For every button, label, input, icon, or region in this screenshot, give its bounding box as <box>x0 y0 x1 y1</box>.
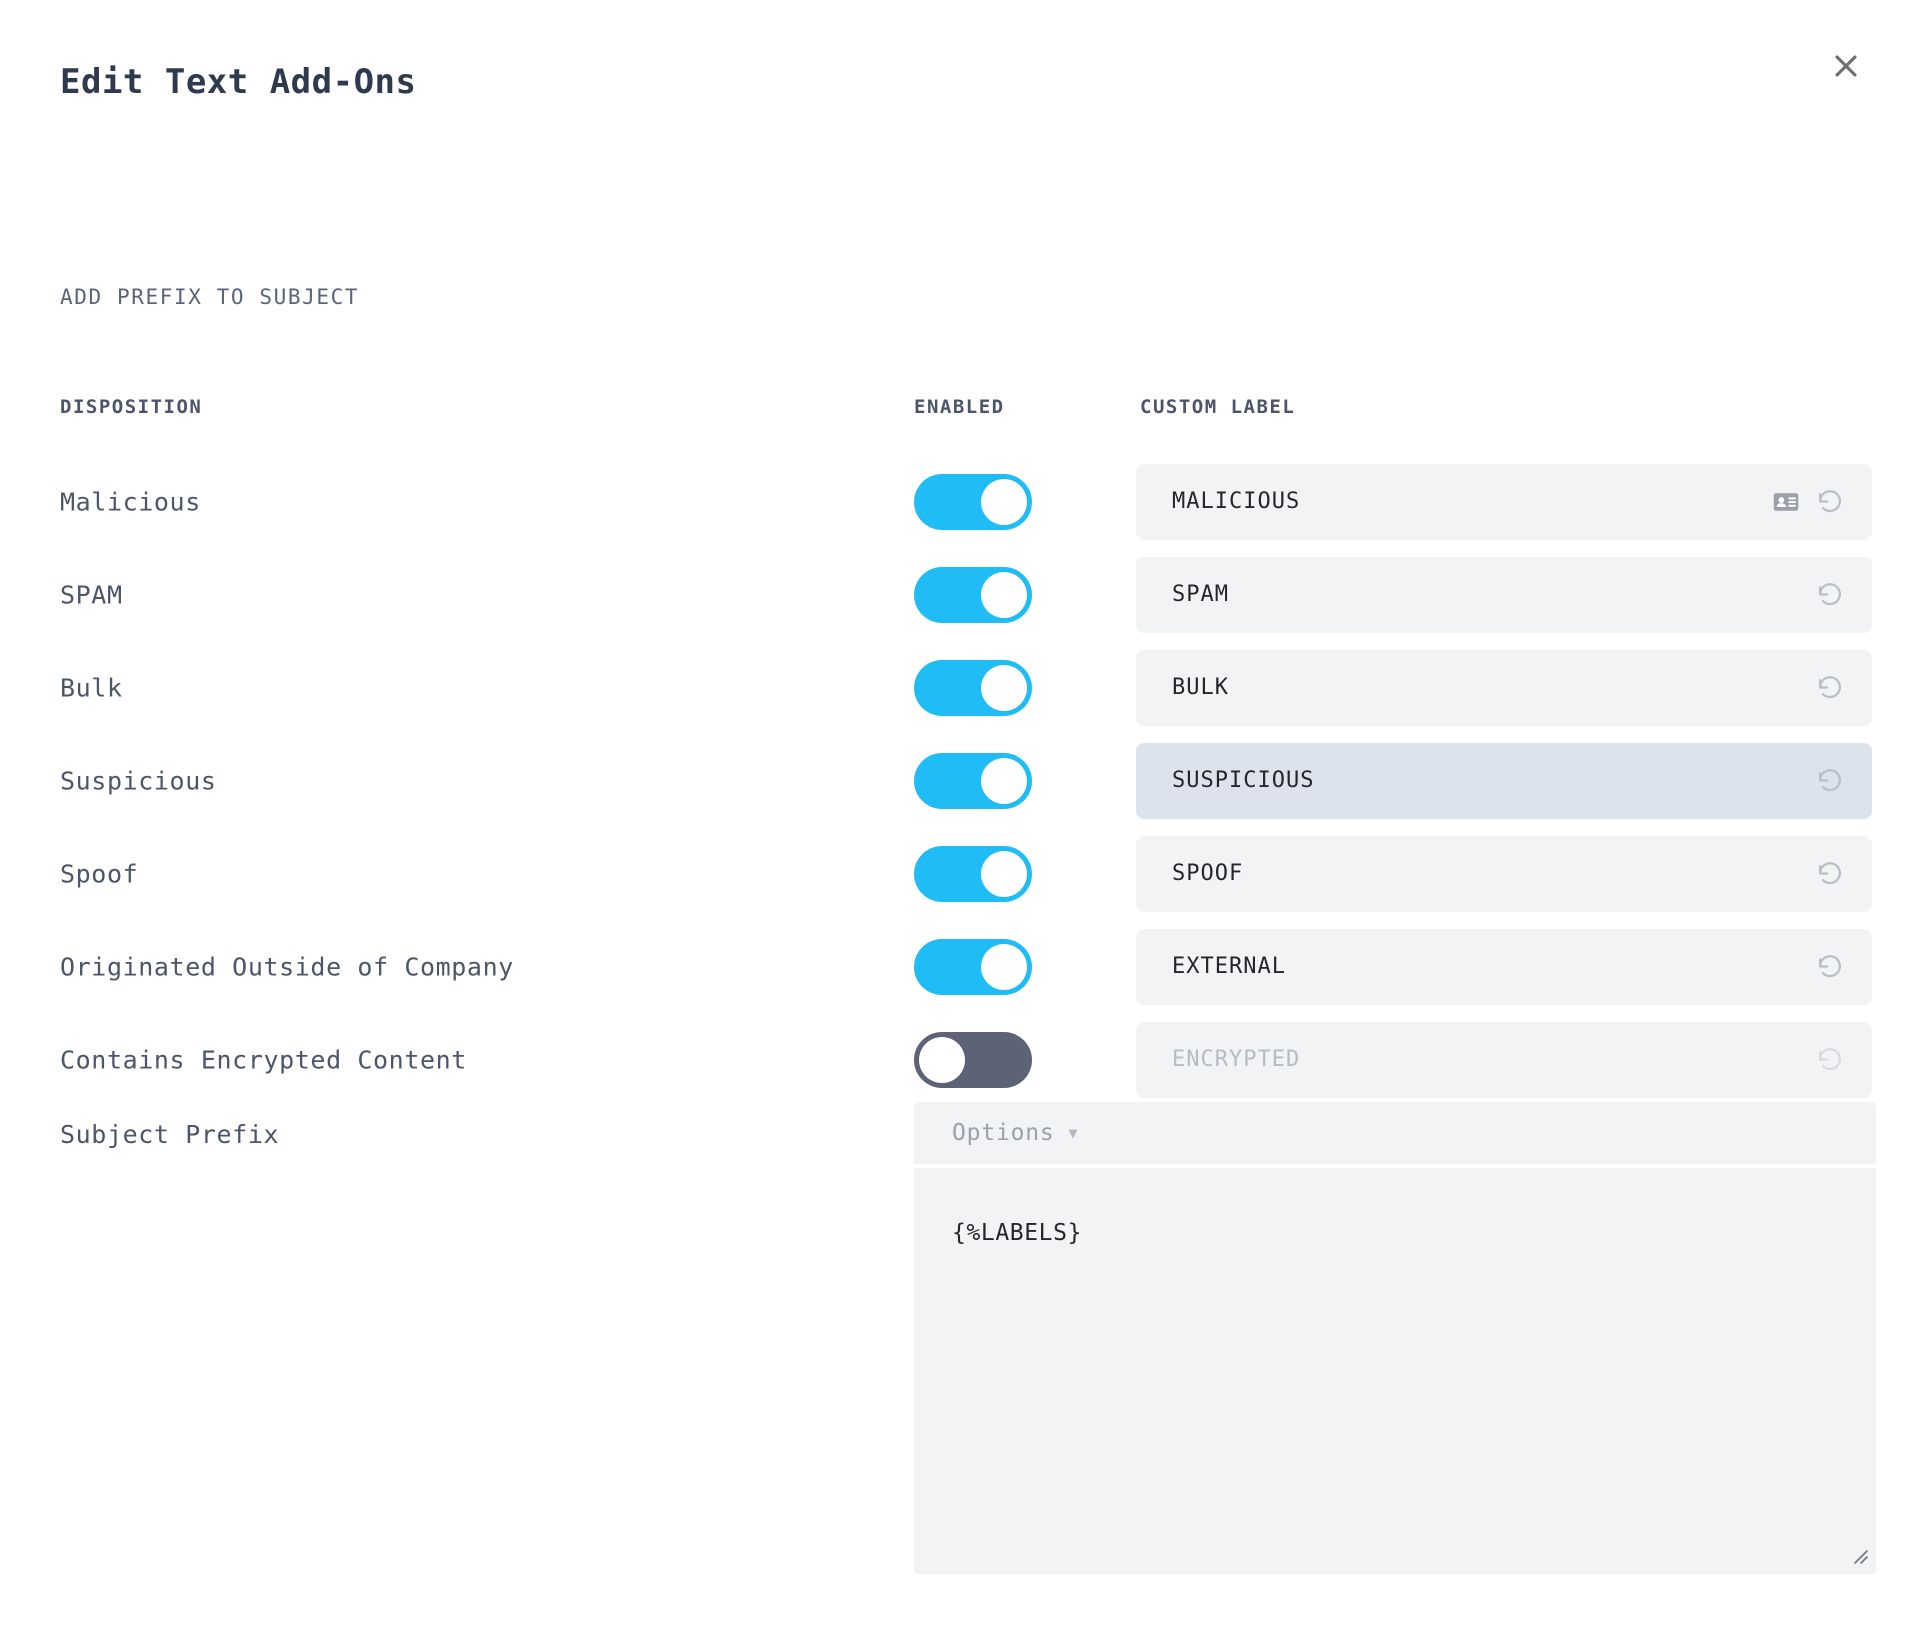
close-button[interactable] <box>1820 40 1872 92</box>
reset-icon[interactable] <box>1814 951 1846 983</box>
edit-text-addons-dialog: Edit Text Add-Ons ADD PREFIX TO SUBJECT … <box>0 0 1908 1650</box>
table-row: Originated Outside of CompanyEXTERNAL <box>0 920 1908 1013</box>
custom-label-value: BULK <box>1136 675 1814 700</box>
table-row: MaliciousMALICIOUS <box>0 455 1908 548</box>
enabled-toggle[interactable] <box>914 567 1032 623</box>
custom-label-input[interactable]: SPOOF <box>1136 836 1872 912</box>
field-icons <box>1814 1044 1872 1076</box>
field-icons <box>1814 951 1872 983</box>
column-header-custom-label: CUSTOM LABEL <box>1140 396 1295 418</box>
custom-label-value: SUSPICIOUS <box>1136 768 1814 793</box>
reset-icon[interactable] <box>1814 1044 1846 1076</box>
reset-icon[interactable] <box>1814 765 1846 797</box>
reset-icon[interactable] <box>1814 672 1846 704</box>
custom-label-value: SPAM <box>1136 582 1814 607</box>
disposition-label: Spoof <box>60 859 138 888</box>
enabled-toggle[interactable] <box>914 1032 1032 1088</box>
toggle-knob <box>981 851 1027 897</box>
field-icons <box>1772 486 1872 518</box>
toggle-knob <box>981 665 1027 711</box>
custom-label-input[interactable]: MALICIOUS <box>1136 464 1872 540</box>
reset-icon[interactable] <box>1814 579 1846 611</box>
disposition-label: Malicious <box>60 487 201 516</box>
custom-label-value: EXTERNAL <box>1136 954 1814 979</box>
contact-card-icon[interactable] <box>1772 488 1800 516</box>
section-heading: ADD PREFIX TO SUBJECT <box>60 285 359 309</box>
column-header-disposition: DISPOSITION <box>60 396 202 418</box>
field-icons <box>1814 579 1872 611</box>
enabled-toggle[interactable] <box>914 753 1032 809</box>
reset-icon[interactable] <box>1814 486 1846 518</box>
column-header-enabled: ENABLED <box>914 396 1005 418</box>
disposition-label: Contains Encrypted Content <box>60 1045 467 1074</box>
disposition-label: Originated Outside of Company <box>60 952 514 981</box>
table-row: SuspiciousSUSPICIOUS <box>0 734 1908 827</box>
disposition-rows: MaliciousMALICIOUSSPAMSPAMBulkBULKSuspic… <box>0 455 1908 1106</box>
disposition-label: SPAM <box>60 580 123 609</box>
field-icons <box>1814 672 1872 704</box>
toggle-knob <box>919 1037 965 1083</box>
custom-label-value: ENCRYPTED <box>1136 1047 1814 1072</box>
toggle-knob <box>981 572 1027 618</box>
toggle-knob <box>981 479 1027 525</box>
table-row: BulkBULK <box>0 641 1908 734</box>
subject-prefix-textarea[interactable] <box>914 1168 1876 1574</box>
custom-label-input[interactable]: BULK <box>1136 650 1872 726</box>
custom-label-value: MALICIOUS <box>1136 489 1772 514</box>
toggle-knob <box>981 758 1027 804</box>
table-row: Contains Encrypted ContentENCRYPTED <box>0 1013 1908 1106</box>
custom-label-input[interactable]: SPAM <box>1136 557 1872 633</box>
enabled-toggle[interactable] <box>914 474 1032 530</box>
disposition-label: Suspicious <box>60 766 217 795</box>
toggle-knob <box>981 944 1027 990</box>
reset-icon[interactable] <box>1814 858 1846 890</box>
custom-label-input[interactable]: ENCRYPTED <box>1136 1022 1872 1098</box>
field-icons <box>1814 858 1872 890</box>
enabled-toggle[interactable] <box>914 660 1032 716</box>
field-icons <box>1814 765 1872 797</box>
enabled-toggle[interactable] <box>914 939 1032 995</box>
custom-label-value: SPOOF <box>1136 861 1814 886</box>
subject-prefix-label: Subject Prefix <box>60 1120 279 1149</box>
table-row: SpoofSPOOF <box>0 827 1908 920</box>
chevron-down-icon: ▼ <box>1069 1126 1078 1141</box>
close-icon <box>1831 51 1861 81</box>
options-dropdown-label: Options <box>914 1120 1055 1146</box>
table-row: SPAMSPAM <box>0 548 1908 641</box>
disposition-label: Bulk <box>60 673 123 702</box>
custom-label-input[interactable]: SUSPICIOUS <box>1136 743 1872 819</box>
page-title: Edit Text Add-Ons <box>60 62 417 102</box>
enabled-toggle[interactable] <box>914 846 1032 902</box>
options-dropdown[interactable]: Options ▼ <box>914 1102 1876 1164</box>
custom-label-input[interactable]: EXTERNAL <box>1136 929 1872 1005</box>
